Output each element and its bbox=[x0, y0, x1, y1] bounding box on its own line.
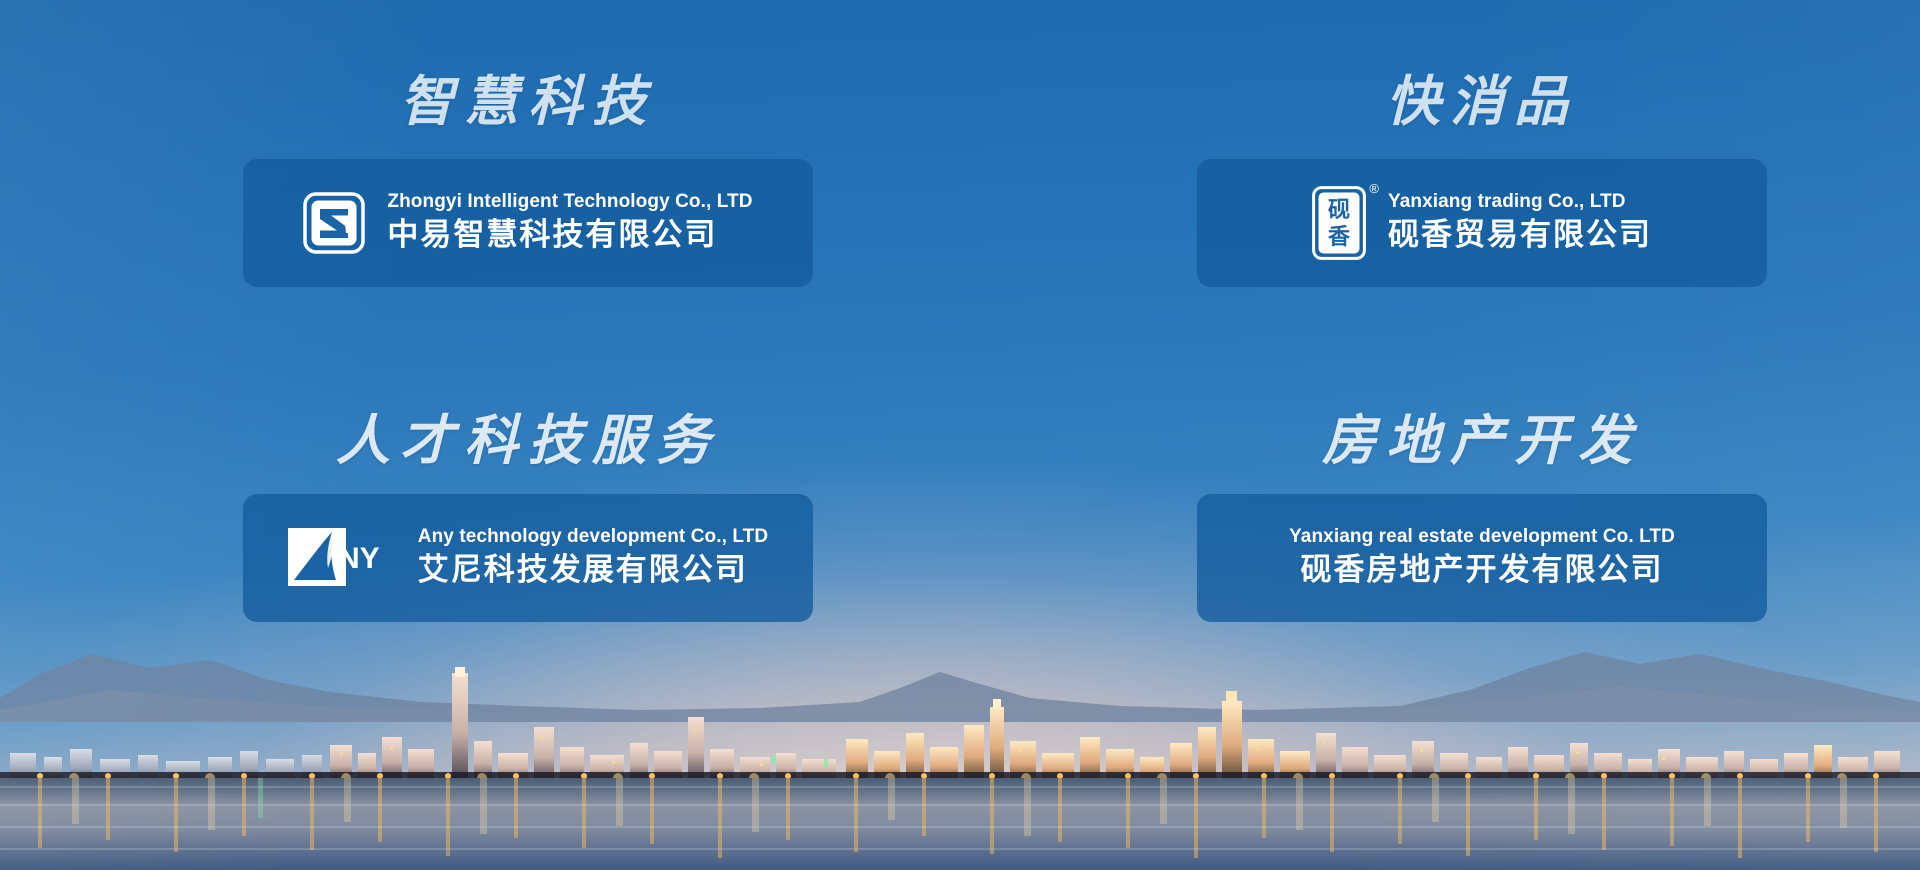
company-card-any[interactable]: NY Any technology development Co., LTD 艾… bbox=[243, 494, 813, 622]
company-card-zhongyi[interactable]: Zhongyi Intelligent Technology Co., LTD … bbox=[243, 159, 813, 287]
company-name-en: Any technology development Co., LTD bbox=[418, 526, 768, 549]
company-name-block-yanxiang-realestate: Yanxiang real estate development Co. LTD… bbox=[1289, 526, 1675, 590]
company-card-yanxiang-trading[interactable]: 砚 香 ® Yanxiang trading Co., LTD 砚香贸易有限公司 bbox=[1197, 159, 1767, 287]
segment-title-smart-technology: 智慧科技 bbox=[400, 74, 656, 131]
seal-char-bottom: 香 bbox=[1328, 224, 1350, 249]
segment-smart-technology: 智慧科技 Zhongyi Intelligent Technology Co.,… bbox=[0, 74, 960, 413]
segment-real-estate: 房地产开发 Yanxiang real estate development C… bbox=[960, 413, 1920, 752]
company-name-en: Zhongyi Intelligent Technology Co., LTD bbox=[387, 191, 752, 214]
yanxiang-seal-logo: 砚 香 ® bbox=[1312, 186, 1366, 260]
company-name-en: Yanxiang real estate development Co. LTD bbox=[1289, 526, 1675, 549]
segment-fmcg: 快消品 砚 香 ® Yanxiang trading Co., LTD 砚香贸易… bbox=[960, 74, 1920, 413]
seal-char-top: 砚 bbox=[1328, 197, 1350, 222]
company-name-cn: 中易智慧科技有限公司 bbox=[387, 216, 752, 255]
zhongyi-z-mark-logo bbox=[303, 192, 365, 254]
segment-title-fmcg: 快消品 bbox=[1386, 74, 1578, 131]
segment-title-real-estate: 房地产开发 bbox=[1322, 413, 1642, 470]
company-name-cn: 砚香房地产开发有限公司 bbox=[1301, 551, 1664, 590]
company-card-yanxiang-realestate[interactable]: Yanxiang real estate development Co. LTD… bbox=[1197, 494, 1767, 622]
any-mountain-logo: NY bbox=[288, 528, 396, 588]
segment-title-talent-services: 人才科技服务 bbox=[336, 413, 720, 470]
company-name-block-any: Any technology development Co., LTD 艾尼科技… bbox=[418, 526, 768, 590]
company-name-block-zhongyi: Zhongyi Intelligent Technology Co., LTD … bbox=[387, 191, 752, 255]
any-logo-wordmark: NY bbox=[338, 542, 380, 575]
segments-grid: 智慧科技 Zhongyi Intelligent Technology Co.,… bbox=[0, 0, 1920, 870]
registered-trademark-icon: ® bbox=[1369, 182, 1379, 195]
segment-talent-services: 人才科技服务 NY Any technology development Co.… bbox=[0, 413, 960, 752]
company-name-en: Yanxiang trading Co., LTD bbox=[1388, 191, 1652, 214]
company-name-cn: 砚香贸易有限公司 bbox=[1388, 216, 1652, 255]
company-name-cn: 艾尼科技发展有限公司 bbox=[418, 551, 768, 590]
company-name-block-yanxiang-trading: Yanxiang trading Co., LTD 砚香贸易有限公司 bbox=[1388, 191, 1652, 255]
hero-banner: 智慧科技 Zhongyi Intelligent Technology Co.,… bbox=[0, 0, 1920, 870]
